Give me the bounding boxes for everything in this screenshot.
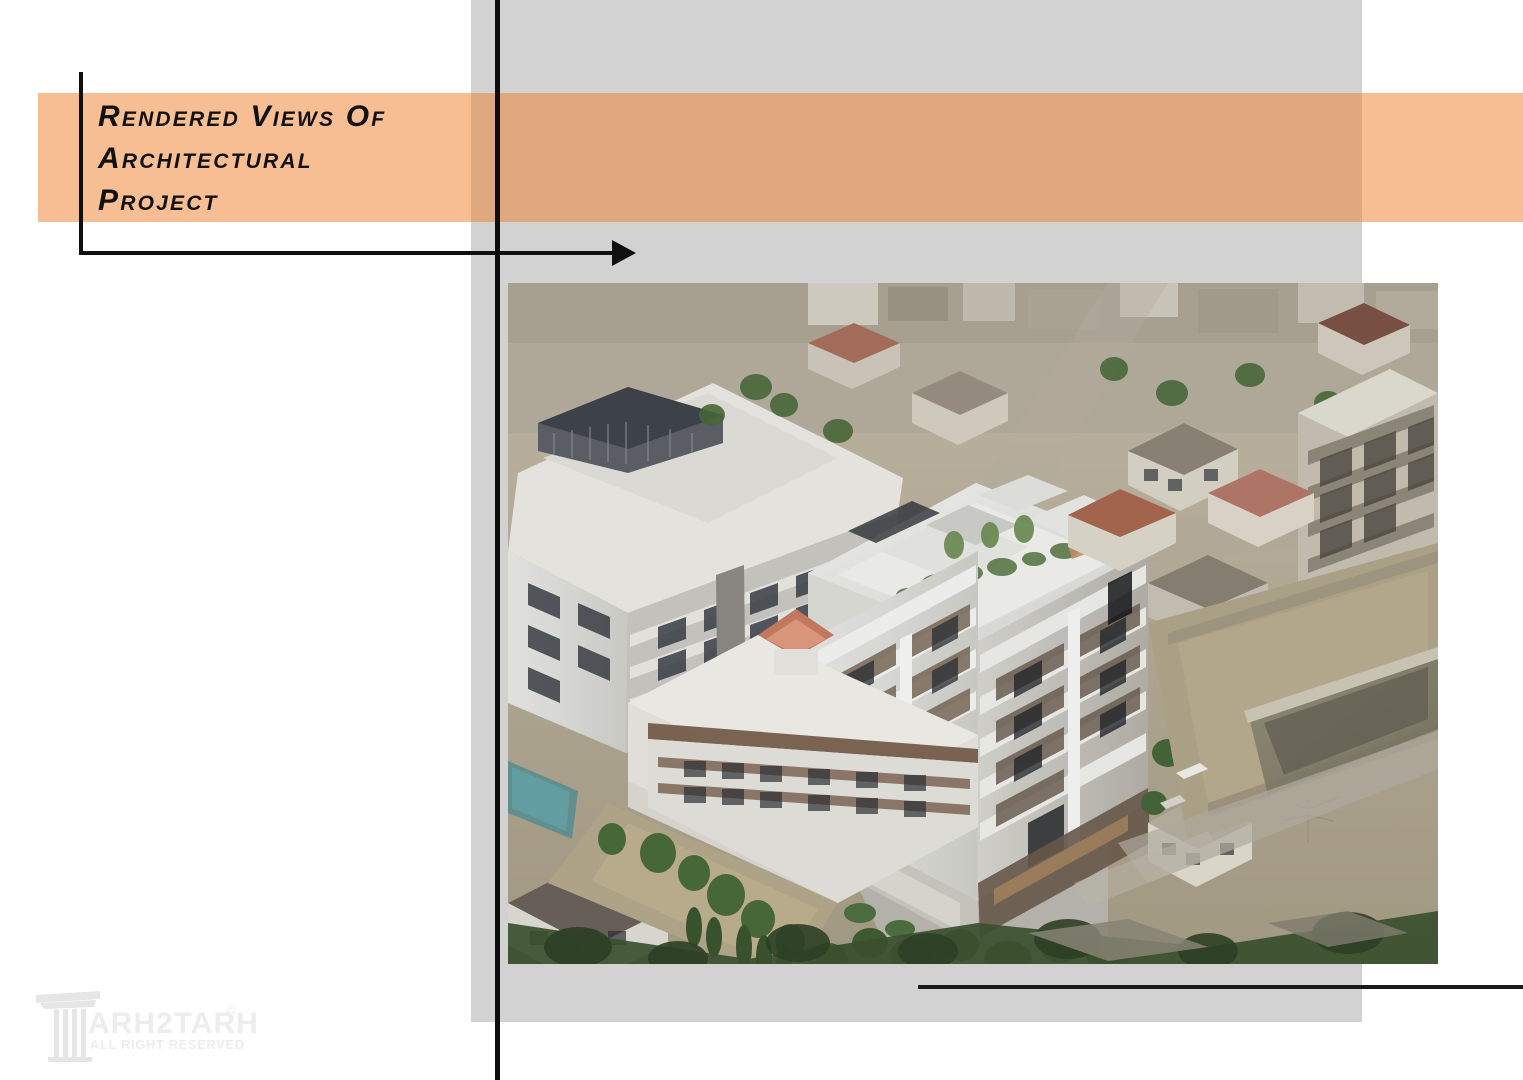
bottom-rule	[918, 985, 1523, 989]
page-title-line-2: Architectural	[98, 138, 498, 180]
project-aerial-photo	[508, 283, 1438, 964]
logo-copyright-icon: ©	[226, 1003, 236, 1018]
page-title: Rendered Views of Architectural Project	[98, 96, 498, 222]
aerial-photo-graphic	[508, 283, 1438, 964]
leader-line-horizontal	[79, 251, 624, 255]
logo-tagline: ALL RIGHT RESERVED	[90, 1037, 245, 1052]
slide-canvas: Rendered Views of Architectural Project	[0, 0, 1523, 1080]
title-accent-band-overlap	[471, 93, 1362, 222]
arrow-head-icon	[612, 240, 636, 266]
leader-line-vertical	[79, 72, 83, 255]
watermark-logo: ARH2TARH © ALL RIGHT RESERVED	[30, 985, 260, 1063]
logo-graphic: ARH2TARH © ALL RIGHT RESERVED	[30, 985, 260, 1063]
page-title-line-3: Project	[98, 180, 498, 222]
page-title-line-1: Rendered Views of	[98, 96, 498, 138]
